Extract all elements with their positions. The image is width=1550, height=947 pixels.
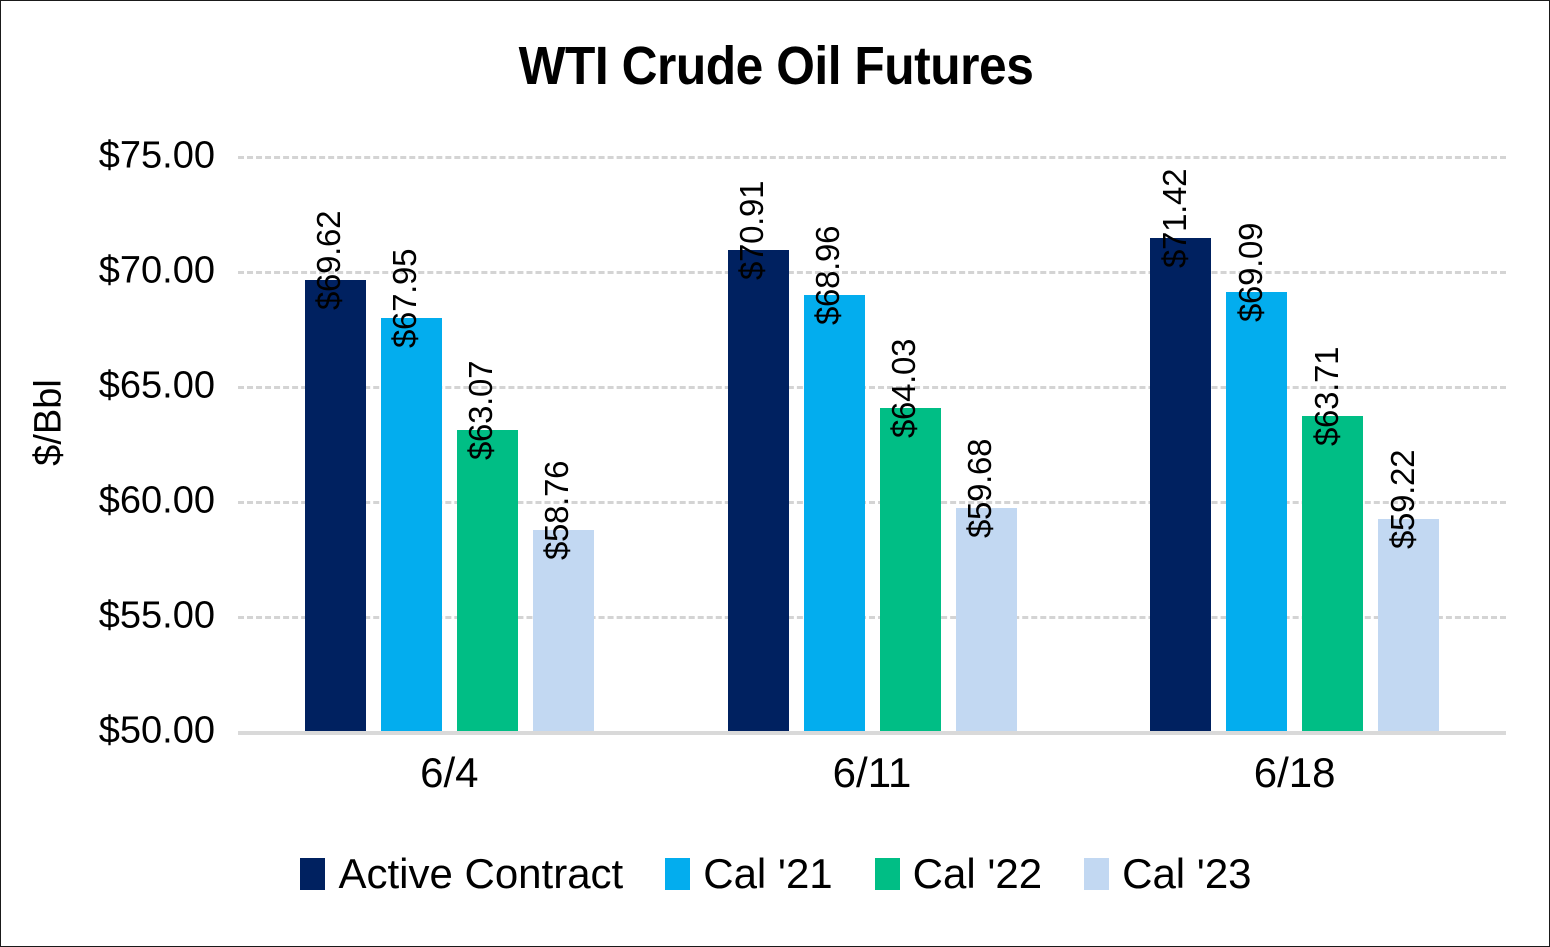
x-tick-label: 6/4	[420, 749, 478, 797]
bar-value-label: $68.96	[809, 226, 847, 325]
chart-legend: Active ContractCal '21Cal '22Cal '23	[1, 853, 1550, 895]
bar-value-label: $63.07	[462, 361, 500, 460]
x-tick-label: 6/18	[1254, 749, 1336, 797]
axis-baseline	[238, 731, 1506, 735]
y-tick-label: $60.00	[35, 480, 215, 523]
plot-area: $69.62$67.95$63.07$58.76$70.91$68.96$64.…	[238, 156, 1506, 731]
legend-label: Active Contract	[338, 853, 623, 895]
bar[interactable]	[728, 250, 789, 731]
gridline	[238, 271, 1506, 274]
bar[interactable]	[1226, 292, 1287, 731]
bar[interactable]	[305, 280, 366, 731]
y-tick-label: $75.00	[35, 135, 215, 178]
y-tick-label: $50.00	[35, 710, 215, 753]
bar[interactable]	[880, 408, 941, 731]
bar-value-label: $69.09	[1232, 223, 1270, 322]
bar-value-label: $63.71	[1308, 347, 1346, 446]
bar[interactable]	[457, 430, 518, 731]
x-tick-label: 6/11	[833, 749, 912, 797]
y-tick-label: $55.00	[35, 595, 215, 638]
bar[interactable]	[1150, 238, 1211, 731]
legend-item[interactable]: Active Contract	[300, 853, 623, 895]
y-tick-label: $70.00	[35, 250, 215, 293]
legend-swatch-icon	[300, 858, 325, 890]
legend-label: Cal '21	[703, 853, 832, 895]
bar[interactable]	[1378, 519, 1439, 731]
gridline	[238, 156, 1506, 159]
bar[interactable]	[956, 508, 1017, 731]
bar-value-label: $70.91	[733, 181, 771, 280]
bar[interactable]	[1302, 416, 1363, 731]
bar-value-label: $58.76	[538, 460, 576, 559]
legend-label: Cal '22	[913, 853, 1042, 895]
bar-value-label: $69.62	[310, 211, 348, 310]
bar-value-label: $64.03	[885, 339, 923, 438]
bar-value-label: $71.42	[1156, 169, 1194, 268]
bar-value-label: $67.95	[386, 249, 424, 348]
bar-value-label: $59.68	[961, 439, 999, 538]
bar-value-label: $59.22	[1384, 450, 1422, 549]
chart-title: WTI Crude Oil Futures	[63, 35, 1489, 97]
legend-item[interactable]: Cal '22	[875, 853, 1042, 895]
chart-container: WTI Crude Oil Futures $/Bbl $75.00$70.00…	[0, 0, 1550, 947]
legend-item[interactable]: Cal '23	[1084, 853, 1251, 895]
legend-swatch-icon	[665, 858, 690, 890]
legend-swatch-icon	[1084, 858, 1109, 890]
legend-item[interactable]: Cal '21	[665, 853, 832, 895]
legend-label: Cal '23	[1122, 853, 1251, 895]
bar[interactable]	[804, 295, 865, 731]
bar[interactable]	[381, 318, 442, 731]
legend-swatch-icon	[875, 858, 900, 890]
y-tick-label: $65.00	[35, 365, 215, 408]
